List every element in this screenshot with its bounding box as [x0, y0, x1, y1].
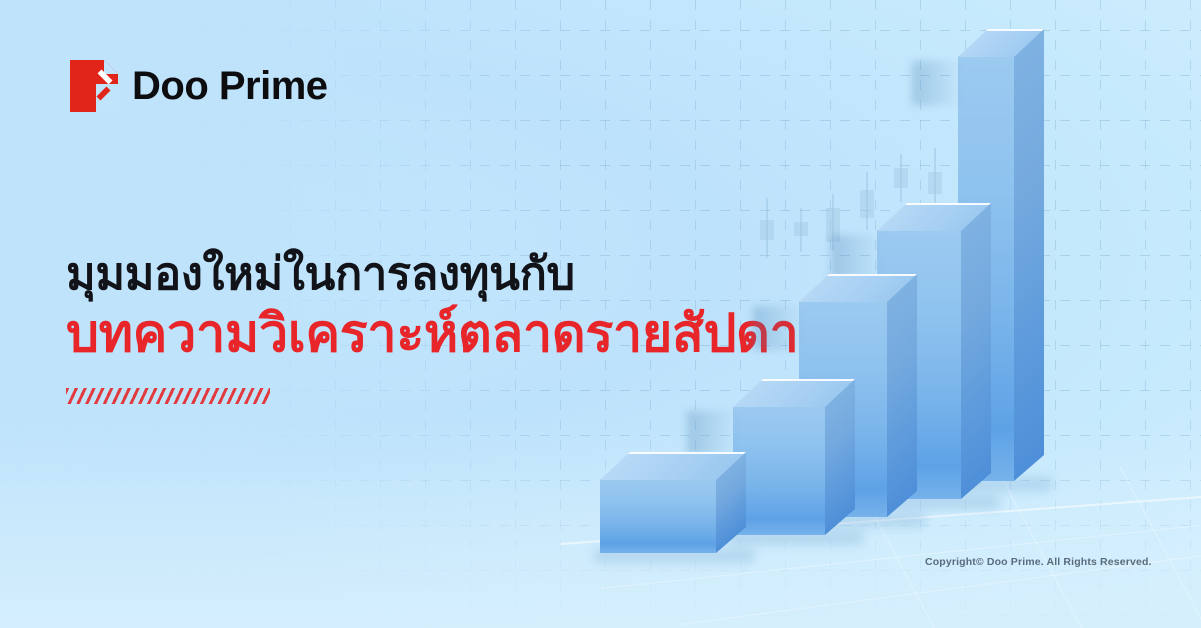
headline-line-1: มุมมองใหม่ในการลงทุนกับ	[66, 247, 826, 300]
bar-side-face	[1014, 29, 1044, 481]
bar-1	[600, 478, 716, 553]
brand-name: Doo Prime	[132, 66, 328, 106]
doo-prime-mark-icon	[70, 60, 118, 112]
bar-front-face	[600, 478, 716, 553]
bar-cast-shadow	[753, 306, 803, 350]
bar-side-face	[961, 203, 991, 499]
headline-block: มุมมองใหม่ในการลงทุนกับ บทความวิเคราะห์ต…	[66, 247, 826, 365]
banner-canvas: Doo Prime มุมมองใหม่ในการลงทุนกับ บทความ…	[0, 0, 1201, 628]
bar-2	[733, 405, 825, 535]
bar-cast-shadow	[831, 235, 881, 279]
diagonal-stripe-rule	[66, 388, 270, 404]
bar-front-face	[733, 405, 825, 535]
headline-line-2: บทความวิเคราะห์ตลาดรายสัปดาห์	[66, 304, 826, 365]
bar-cast-shadow	[912, 61, 962, 105]
bar-side-face	[887, 274, 917, 517]
bar-cast-shadow	[687, 411, 737, 455]
brand-logo[interactable]: Doo Prime	[70, 60, 328, 112]
copyright-text: Copyright© Doo Prime. All Rights Reserve…	[925, 556, 1152, 568]
